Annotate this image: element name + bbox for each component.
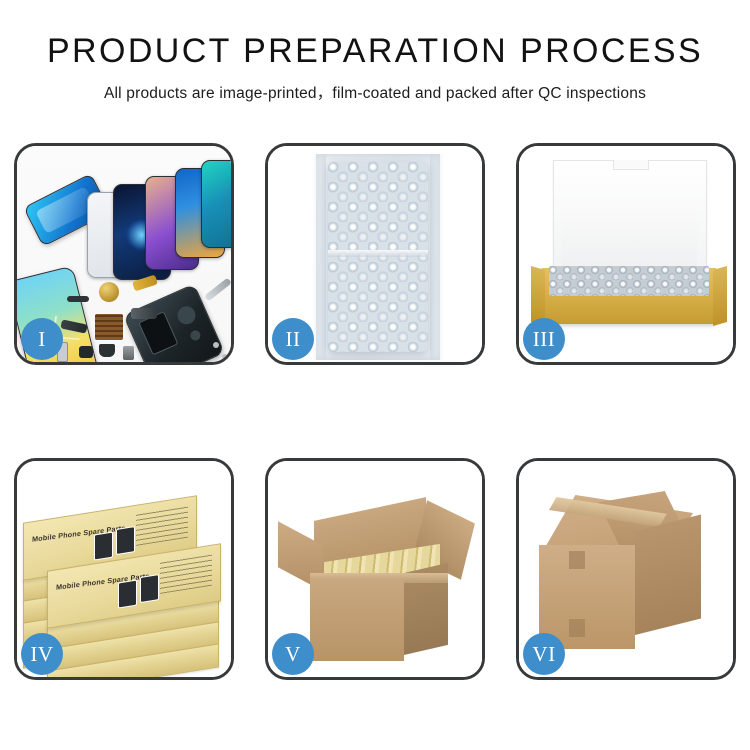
phone-screen-icon	[201, 160, 231, 248]
step-badge-5: V	[272, 633, 314, 675]
antenna-part-icon	[67, 296, 89, 302]
box-phone-image	[116, 526, 135, 555]
box-spec-list	[136, 506, 188, 546]
box-lid-notch	[613, 160, 649, 170]
carton-flap-seam	[569, 551, 585, 569]
step-badge-1: I	[21, 318, 63, 360]
step-badge-3: III	[523, 318, 565, 360]
page-header: PRODUCT PREPARATION PROCESS All products…	[0, 0, 750, 103]
screw-icon	[222, 354, 228, 360]
carton-side-panel	[635, 515, 701, 635]
step-panel-3: III	[516, 143, 736, 365]
step-panel-5: V	[265, 458, 485, 680]
process-steps-grid: I II III	[14, 143, 736, 680]
step-badge-4: IV	[21, 633, 63, 675]
page-title: PRODUCT PREPARATION PROCESS	[0, 34, 750, 70]
step-panel-2: II	[265, 143, 485, 365]
coil-part-icon	[99, 282, 119, 302]
step-badge-6: VI	[523, 633, 565, 675]
carton-flap-seam	[569, 619, 585, 637]
step-panel-6: VI	[516, 458, 736, 680]
carton-front-panel	[310, 579, 404, 661]
wrap-seam	[328, 250, 428, 257]
page-subtitle: All products are image-printed，film-coat…	[0, 81, 750, 103]
wrap-edge-left	[312, 154, 326, 360]
box-phone-image	[94, 532, 113, 561]
speaker-part-icon	[99, 344, 115, 357]
screw-icon	[213, 342, 219, 348]
button-part-icon	[123, 346, 134, 360]
box-inner-flap	[561, 198, 697, 266]
camera-part-icon	[79, 346, 93, 358]
carton-front-panel	[539, 545, 635, 649]
tweezers-icon	[204, 278, 231, 302]
wrap-edge-right	[430, 154, 444, 360]
box-phone-image	[140, 574, 159, 603]
wrapped-contents-icon	[549, 266, 709, 296]
step-panel-4: Mobile Phone Spare Parts Mobile Phone Sp…	[14, 458, 234, 680]
copper-mesh-icon	[95, 314, 123, 340]
step-panel-1: I	[14, 143, 234, 365]
step-badge-2: II	[272, 318, 314, 360]
bubble-wrap-icon	[328, 162, 428, 352]
box-phone-image	[118, 580, 137, 609]
flex-cable-icon	[131, 308, 157, 319]
box-spec-list	[160, 554, 212, 594]
